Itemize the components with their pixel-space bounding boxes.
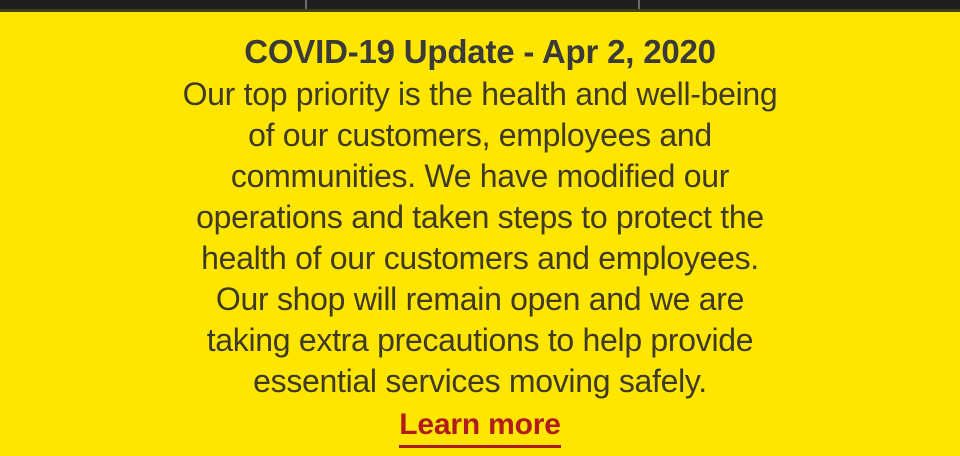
body-line: essential services moving safely.	[0, 361, 960, 402]
banner-heading: COVID-19 Update - Apr 2, 2020	[0, 12, 960, 72]
body-line: operations and taken steps to protect th…	[0, 197, 960, 238]
top-chrome-strip	[0, 0, 960, 9]
learn-more-link[interactable]: Learn more	[399, 406, 560, 448]
body-line: communities. We have modified our	[0, 156, 960, 197]
body-line: health of our customers and employees.	[0, 238, 960, 279]
body-line: of our customers, employees and	[0, 115, 960, 156]
strip-divider-right	[638, 0, 640, 9]
banner-body-text: Our top priority is the health and well-…	[0, 72, 960, 402]
strip-divider-left	[305, 0, 307, 9]
learn-more-container: Learn more	[0, 402, 960, 449]
body-line: Our top priority is the health and well-…	[0, 74, 960, 115]
banner-content: COVID-19 Update - Apr 2, 2020 Our top pr…	[0, 12, 960, 456]
body-line: taking extra precautions to help provide	[0, 320, 960, 361]
body-line: Our shop will remain open and we are	[0, 279, 960, 320]
covid-announcement-banner: COVID-19 Update - Apr 2, 2020 Our top pr…	[0, 0, 960, 456]
